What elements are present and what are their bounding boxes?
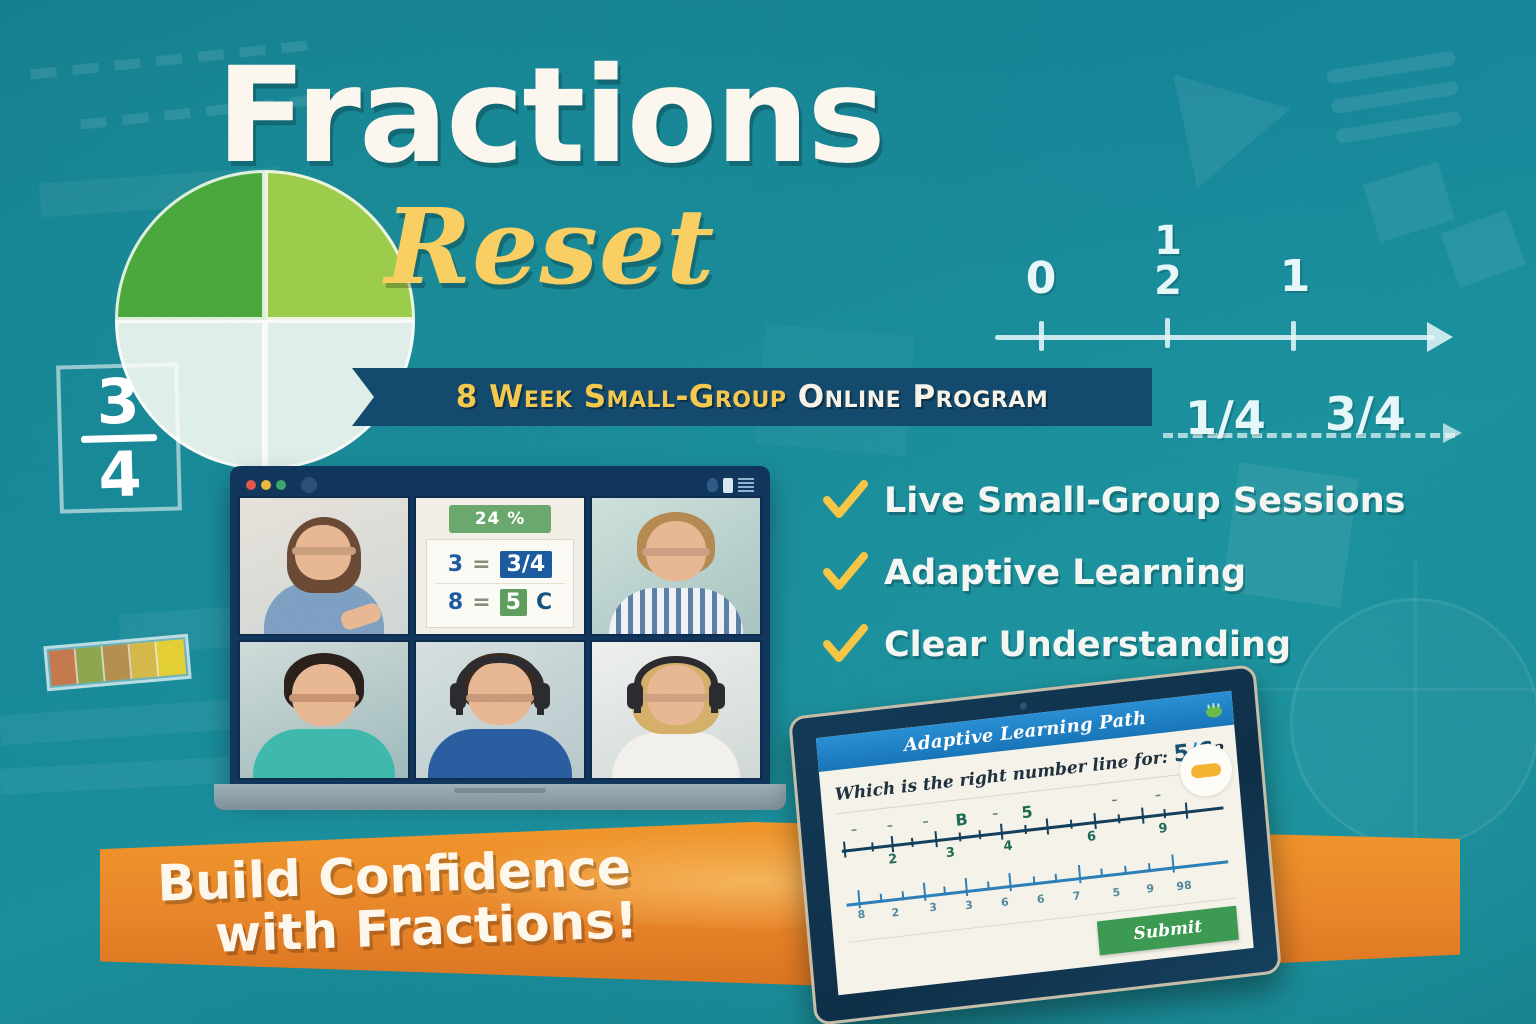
- page-title: Fractions: [0, 52, 1100, 181]
- badge-pill-icon: [1191, 762, 1222, 778]
- laptop-video-call: 24 % 3 = 3/4 8 = 5 C: [230, 466, 770, 816]
- window-minimize-dot[interactable]: [261, 480, 271, 490]
- window-maximize-dot[interactable]: [276, 480, 286, 490]
- half-numerator: 1: [1154, 221, 1182, 261]
- poster-canvas: 3 4 Fractions Reset 8 Week Small-Group O…: [0, 0, 1536, 1024]
- checklist-item-label: Adaptive Learning: [884, 553, 1246, 593]
- tablet-device: Adaptive Learning Path Which is the righ…: [788, 664, 1282, 1024]
- video-participant-grid: 24 % 3 = 3/4 8 = 5 C: [238, 496, 762, 780]
- strip-cell-2: [76, 646, 106, 683]
- option-b-label-2: 2: [891, 906, 900, 920]
- strip-cell-1: [49, 649, 79, 686]
- whiteboard-row-2: 8 = 5 C: [435, 583, 565, 621]
- whiteboard-row2-left: 8: [448, 590, 463, 615]
- option-b-label-7: 7: [1072, 889, 1081, 903]
- option-b-label-8: 5: [1112, 886, 1121, 900]
- option-a-label-5: 9: [1158, 821, 1168, 837]
- video-tile-student-3[interactable]: [238, 640, 410, 780]
- whiteboard-row1-equals: =: [472, 552, 490, 577]
- headphones-icon: [634, 656, 718, 713]
- strip-cell-5: [156, 639, 186, 676]
- strip-cell-4: [129, 642, 159, 679]
- option-a-label-1: 2: [888, 852, 898, 868]
- whiteboard-percent-label: 24 %: [449, 505, 552, 533]
- option-a-label-2: 3: [945, 845, 955, 861]
- option-a-label-3: 4: [1003, 839, 1013, 855]
- number-line-tick-half: [1165, 318, 1170, 348]
- option-a-label-4: 6: [1086, 829, 1096, 845]
- grid-icon: [738, 478, 754, 492]
- number-line-axis: [995, 335, 1435, 340]
- option-a-above-label-1: B: [955, 809, 969, 829]
- headphones-icon: [456, 656, 543, 716]
- option-b-label-9: 9: [1146, 882, 1155, 896]
- checklist-item-clear-understanding[interactable]: Clear Understanding: [822, 622, 1405, 668]
- check-icon: [822, 622, 868, 668]
- triangle-decor-icon: [1173, 52, 1303, 188]
- feature-checklist: Live Small-Group Sessions Adaptive Learn…: [822, 478, 1405, 694]
- option-b-label-10: 98: [1176, 879, 1192, 894]
- fraction-numerator: 3: [96, 365, 141, 439]
- title-block: Fractions Reset: [0, 52, 1100, 308]
- option-b-label-3: 3: [929, 901, 938, 915]
- video-tile-student-4[interactable]: [414, 640, 586, 780]
- droplet-icon: [707, 478, 718, 492]
- app-leaf-logo-icon: [1204, 700, 1223, 719]
- number-line-label-1: 1: [1271, 251, 1319, 302]
- whiteboard-row2-equals: =: [472, 590, 490, 615]
- video-tile-student-5[interactable]: [590, 640, 762, 780]
- check-icon: [822, 478, 868, 524]
- fraction-card-three-quarters: 3 4: [56, 362, 182, 513]
- option-b-label-5: 6: [1001, 895, 1010, 909]
- tablet-screen: Adaptive Learning Path Which is the righ…: [816, 691, 1254, 995]
- half-denominator: 2: [1154, 261, 1182, 301]
- laptop-base: [214, 784, 786, 810]
- check-icon: [822, 550, 868, 596]
- strip-cell-3: [103, 644, 133, 681]
- whiteboard-row-1: 3 = 3/4: [435, 546, 565, 583]
- number-line-label-one-half: 1 2: [1141, 221, 1195, 301]
- fraction-strip: [43, 634, 191, 691]
- dashed-label-three-quarters: 3/4: [1325, 387, 1406, 441]
- bars-decor-icon: [1326, 50, 1470, 160]
- app-logo-icon: [301, 477, 317, 493]
- window-close-dot[interactable]: [246, 480, 256, 490]
- laptop-screen: 24 % 3 = 3/4 8 = 5 C: [230, 466, 770, 788]
- video-app-titlebar: [238, 474, 762, 496]
- option-a-above-label-2: 5: [1021, 802, 1034, 822]
- dashed-number-line-arrow-icon: [1443, 423, 1462, 443]
- option-b-label-6: 6: [1036, 892, 1045, 906]
- tagline-text: Build Confidence with Fractions!: [156, 838, 719, 963]
- panel-icon: [723, 478, 733, 493]
- whiteboard-row2-chip: 5: [500, 589, 527, 616]
- checklist-item-label: Live Small-Group Sessions: [884, 481, 1405, 521]
- tablet-camera-icon: [1020, 702, 1028, 710]
- page-subtitle: Reset: [0, 185, 1100, 308]
- submit-button[interactable]: Submit: [1097, 906, 1239, 956]
- video-tile-student-1[interactable]: [238, 496, 410, 636]
- whiteboard-card: 3 = 3/4 8 = 5 C: [426, 539, 574, 628]
- number-line-label-0: 0: [1017, 253, 1065, 304]
- whiteboard-row2-right: C: [536, 590, 552, 615]
- dashed-label-one-quarter: 1/4: [1185, 391, 1266, 445]
- number-line-decoration: 0 1 2 1 1/4 3/4: [995, 215, 1465, 455]
- video-tile-student-2[interactable]: [590, 496, 762, 636]
- checklist-item-live-sessions[interactable]: Live Small-Group Sessions: [822, 478, 1405, 524]
- option-b-label-1: 8: [857, 908, 866, 922]
- whiteboard-row1-left: 3: [448, 552, 463, 577]
- checklist-item-adaptive-learning[interactable]: Adaptive Learning: [822, 550, 1405, 596]
- number-line-tick-1: [1291, 321, 1296, 351]
- fraction-denominator: 4: [97, 437, 142, 511]
- banner-gold-text: 8 Week Small-Group: [456, 379, 798, 415]
- number-line-arrow-icon: [1427, 322, 1453, 352]
- program-banner-text: 8 Week Small-Group Online Program: [456, 379, 1048, 415]
- number-line-tick-0: [1039, 321, 1044, 351]
- option-b-label-4: 3: [965, 898, 974, 912]
- whiteboard-row1-right: 3/4: [500, 551, 553, 578]
- checklist-item-label: Clear Understanding: [884, 625, 1291, 665]
- video-tile-whiteboard[interactable]: 24 % 3 = 3/4 8 = 5 C: [414, 496, 586, 636]
